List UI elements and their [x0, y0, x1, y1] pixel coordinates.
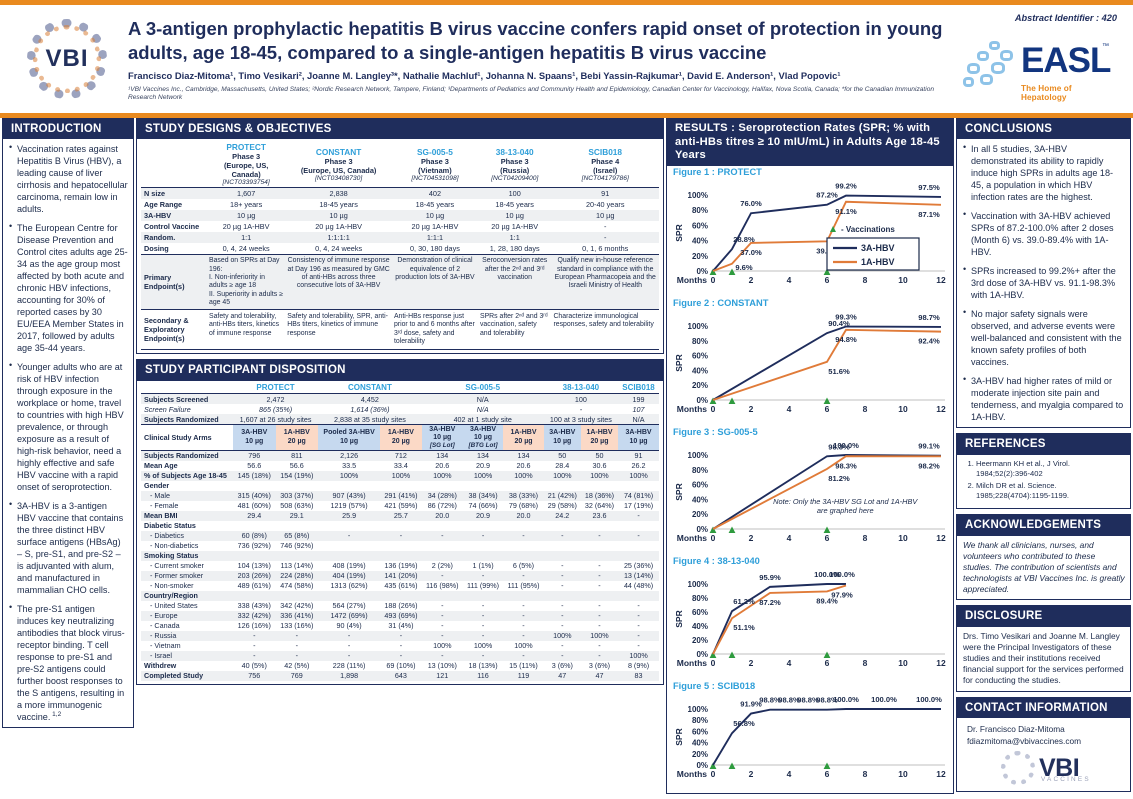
row-label: Control Vaccine: [141, 221, 207, 232]
figure-chart: 0%20%40%60%80%100%SPR024681012Months61.2…: [669, 566, 951, 680]
table-row: Withdrew40 (5%)42 (5%)228 (11%)69 (10%)1…: [141, 661, 659, 671]
study-phase: Phase 3: [209, 152, 283, 161]
table-row: Control Vaccine20 µg 1A-HBV20 µg 1A-HBV2…: [141, 221, 659, 232]
y-tick-label: 60%: [692, 221, 708, 230]
table-cell: -: [544, 601, 581, 611]
easl-trademark-icon: ™: [1102, 43, 1109, 50]
table-cell: 3 (6%): [581, 661, 618, 671]
study-designs-tbody: N size1,6072,83840210091Age Range18+ yea…: [141, 188, 659, 350]
x-tick-label: 2: [749, 275, 754, 285]
table-cell: 116: [463, 671, 503, 681]
y-tick-label: 80%: [692, 206, 708, 215]
references-heading: REFERENCES: [957, 434, 1130, 454]
disposition-tbody: Subjects Screened2,4724,452N/A100199Scre…: [141, 394, 659, 681]
y-tick-label: 20%: [692, 252, 708, 261]
reference-item: Heermann KH et al., J Virol. 1984;52(2):…: [976, 459, 1125, 479]
table-cell: [422, 541, 463, 551]
table-cell: [544, 551, 581, 561]
data-point-label: 99.2%: [835, 182, 857, 191]
table-row: Age Range18+ years18-45 years18-45 years…: [141, 199, 659, 210]
table-cell: [233, 591, 276, 601]
data-point-label: 95.9%: [759, 573, 781, 582]
table-cell: -: [618, 531, 659, 541]
figure-3: Figure 3 : SG-005-50%20%40%60%80%100%SPR…: [669, 426, 951, 555]
table-cell: [581, 541, 618, 551]
study-name: SCIB018: [553, 147, 657, 157]
table-cell: 1:1:1: [392, 232, 478, 243]
row-label: - Israel: [141, 651, 233, 661]
page-title: A 3-antigen prophylactic hepatitis B vir…: [128, 17, 948, 64]
data-point-label: 51.6%: [828, 367, 850, 376]
x-tick-label: 4: [787, 275, 792, 285]
easl-wordmark: EASL: [1021, 43, 1110, 78]
table-cell: 20.6: [422, 461, 463, 471]
disposition-column-header: PROTECT: [233, 383, 318, 394]
arm-dose: 10 µg: [546, 438, 579, 446]
table-cell: 0, 1, 6 months: [551, 243, 659, 255]
y-axis-label: SPR: [674, 354, 684, 371]
table-cell: 4,452: [318, 394, 422, 405]
table-cell: -: [618, 611, 659, 621]
y-tick-label: 60%: [692, 352, 708, 361]
table-cell: 20.9: [463, 511, 503, 521]
table-cell: 100%: [463, 641, 503, 651]
table-cell: [318, 591, 380, 601]
table-cell: [544, 521, 581, 531]
table-cell: -: [318, 641, 380, 651]
study-location: (Europe, US, Canada): [209, 161, 283, 179]
table-cell: [503, 521, 543, 531]
table-cell: 2,472: [233, 394, 318, 405]
x-tick-label: 2: [749, 533, 754, 543]
contact-heading: CONTACT INFORMATION: [957, 698, 1130, 718]
y-tick-label: 20%: [692, 750, 708, 759]
table-cell: 34 (28%): [422, 491, 463, 501]
table-cell: 712: [380, 450, 422, 461]
table-cell: [233, 551, 276, 561]
table-cell: 29.1: [276, 511, 319, 521]
table-cell: 31 (4%): [380, 621, 422, 631]
table-cell: -: [422, 571, 463, 581]
row-label: Completed Study: [141, 671, 233, 681]
table-cell: -: [463, 621, 503, 631]
table-cell: N/A: [618, 414, 659, 425]
table-cell: 33.5: [318, 461, 380, 471]
table-cell: 30.6: [581, 461, 618, 471]
table-row: - Israel---------100%: [141, 651, 659, 661]
table-cell: 865 (35%): [233, 404, 318, 414]
table-cell: 315 (40%): [233, 491, 276, 501]
figure-title: Figure 3 : SG-005-5: [669, 426, 951, 437]
clinical-study-arms-row: Clinical Study Arms3A-HBV10 µg1A-HBV20 µ…: [141, 425, 659, 451]
table-cell: 126 (16%): [233, 621, 276, 631]
table-cell: -: [463, 631, 503, 641]
table-row: Mean Age56.656.633.533.420.620.920.628.4…: [141, 461, 659, 471]
data-point-label: 97.9%: [831, 590, 853, 599]
table-cell: -: [380, 631, 422, 641]
contact-name: Dr. Francisco Diaz-Mitoma: [967, 724, 1125, 736]
table-cell: -: [503, 571, 543, 581]
table-cell: 18 (13%): [463, 661, 503, 671]
data-point-label: 97.5%: [918, 183, 940, 192]
table-cell: SPRs after 2ⁿᵈ and 3ʳᵈ vaccination, safe…: [478, 310, 551, 350]
table-cell: 20-40 years: [551, 199, 659, 210]
row-label: Primary Endpoint(s): [141, 255, 207, 310]
table-cell: 336 (41%): [276, 611, 319, 621]
x-tick-label: 8: [863, 658, 868, 668]
table-cell: 29.4: [233, 511, 276, 521]
conclusions-panel: CONCLUSIONS In all 5 studies, 3A-HBV dem…: [956, 118, 1131, 428]
table-cell: 20.6: [503, 461, 543, 471]
study-phase: Phase 3: [287, 157, 390, 166]
x-tick-label: 6: [825, 658, 830, 668]
table-cell: 1, 28, 180 days: [478, 243, 551, 255]
table-cell: 481 (60%): [233, 501, 276, 511]
table-cell: 402 at 1 study site: [422, 414, 544, 425]
vbi-logo: VBI: [22, 17, 112, 101]
x-tick-label: 6: [825, 533, 830, 543]
table-cell: 291 (41%): [380, 491, 422, 501]
table-cell: -: [422, 651, 463, 661]
table-cell: 20.0: [422, 511, 463, 521]
table-cell: 907 (43%): [318, 491, 380, 501]
legend-label-3a: 3A-HBV: [861, 243, 895, 253]
table-cell: 508 (63%): [276, 501, 319, 511]
table-cell: 28.4: [544, 461, 581, 471]
study-design-column-header: CONSTANTPhase 3(Europe, US, Canada)[NCT0…: [285, 141, 392, 188]
table-row: - Male315 (40%)303 (37%)907 (43%)291 (41…: [141, 491, 659, 501]
legend-label-1a: 1A-HBV: [861, 257, 895, 267]
author-list: Francisco Diaz-Mitoma¹, Timo Vesikari², …: [128, 70, 948, 82]
table-row: - Female481 (60%)508 (63%)1219 (57%)421 …: [141, 501, 659, 511]
table-cell: 20 µg 1A-HBV: [478, 221, 551, 232]
table-cell: -: [618, 621, 659, 631]
y-tick-label: 40%: [692, 739, 708, 748]
x-tick-label: 10: [898, 275, 908, 285]
data-point-label: 98.2%: [918, 461, 940, 470]
table-cell: 435 (61%): [380, 581, 422, 591]
table-row: Diabetic Status: [141, 521, 659, 531]
table-cell: 224 (28%): [276, 571, 319, 581]
row-label: - Non-smoker: [141, 581, 233, 591]
table-cell: 421 (59%): [380, 501, 422, 511]
table-cell: [463, 551, 503, 561]
y-tick-label: 80%: [692, 466, 708, 475]
disclosure-panel: DISCLOSURE Drs. Timo Vesikari and Joanne…: [956, 605, 1131, 691]
column-study-tables: STUDY DESIGNS & OBJECTIVES PROTECTPhase …: [136, 118, 664, 690]
table-cell: 119: [503, 671, 543, 681]
table-row: - Diabetics60 (8%)65 (8%)--------: [141, 531, 659, 541]
data-point-label: 76.0%: [740, 199, 762, 208]
figure-title: Figure 1 : PROTECT: [669, 166, 951, 177]
table-cell: [463, 521, 503, 531]
table-cell: -: [422, 601, 463, 611]
x-tick-label: 10: [898, 769, 908, 779]
data-point-label: 51.1%: [733, 623, 755, 632]
x-axis-label: Months: [677, 658, 707, 668]
table-cell: 42 (5%): [276, 661, 319, 671]
x-tick-label: 12: [936, 404, 946, 414]
row-label: Withdrew: [141, 661, 233, 671]
table-cell: [276, 481, 319, 491]
disposition-heading: STUDY PARTICIPANT DISPOSITION: [137, 360, 663, 380]
table-cell: Based on SPRs at Day 196:I. Non-inferior…: [207, 255, 285, 310]
table-cell: -: [380, 641, 422, 651]
table-cell: 50: [544, 450, 581, 461]
x-tick-label: 2: [749, 769, 754, 779]
table-cell: 25 (36%): [618, 561, 659, 571]
row-label: - Current smoker: [141, 561, 233, 571]
table-cell: [276, 591, 319, 601]
table-cell: 332 (42%): [233, 611, 276, 621]
table-cell: 564 (27%): [318, 601, 380, 611]
table-cell: 20 µg 1A-HBV: [392, 221, 478, 232]
table-cell: -: [544, 611, 581, 621]
y-tick-label: 100%: [688, 705, 708, 714]
y-tick-label: 100%: [688, 322, 708, 331]
y-axis-label: SPR: [674, 224, 684, 241]
table-cell: -: [544, 581, 581, 591]
table-cell: Safety and tolerability, SPR, anti-HBs t…: [285, 310, 392, 350]
x-axis-label: Months: [677, 404, 707, 414]
conclusion-bullet: 3A-HBV had higher rates of mild or moder…: [963, 375, 1125, 423]
arm-dose: 20 µg: [278, 438, 317, 446]
table-row: Smoking Status: [141, 551, 659, 561]
row-label: Random.: [141, 232, 207, 243]
x-tick-label: 4: [787, 533, 792, 543]
table-cell: 69 (10%): [380, 661, 422, 671]
table-cell: 13 (10%): [422, 661, 463, 671]
x-tick-label: 4: [787, 404, 792, 414]
arm-name: Pooled 3A-HBV: [320, 429, 378, 437]
arm-dose: 20 µg: [382, 438, 420, 446]
table-cell: 188 (26%): [380, 601, 422, 611]
disposition-column-header: CONSTANT: [318, 383, 422, 394]
table-cell: -: [581, 641, 618, 651]
table-cell: 2,838 at 35 study sites: [318, 414, 422, 425]
table-cell: [380, 521, 422, 531]
y-tick-label: 20%: [692, 510, 708, 519]
table-cell: 100 at 3 study sites: [544, 414, 618, 425]
arm-lot: [BTG Lot]: [465, 442, 501, 449]
table-row: - Russia-------100%100%-: [141, 631, 659, 641]
table-cell: 13 (14%): [618, 571, 659, 581]
table-cell: 2,838: [285, 188, 392, 200]
table-cell: 338 (43%): [233, 601, 276, 611]
table-cell: 100%: [422, 641, 463, 651]
x-tick-label: 0: [711, 769, 716, 779]
row-label: Gender: [141, 481, 233, 491]
table-cell: 18-45 years: [285, 199, 392, 210]
table-cell: [544, 481, 581, 491]
table-cell: 100: [478, 188, 551, 200]
arm-dose: 10 µg: [320, 438, 378, 446]
row-label: Age Range: [141, 199, 207, 210]
table-cell: 489 (61%): [233, 581, 276, 591]
table-cell: -: [380, 531, 422, 541]
x-tick-label: 12: [936, 275, 946, 285]
table-cell: 0, 30, 180 days: [392, 243, 478, 255]
table-cell: 116 (98%): [422, 581, 463, 591]
table-cell: 2 (2%): [422, 561, 463, 571]
introduction-bullet: 3A-HBV is a 3-antigen HBV vaccine that c…: [9, 500, 128, 596]
table-cell: 100%: [318, 471, 380, 481]
study-designs-header-row: PROTECTPhase 3(Europe, US, Canada)[NCT03…: [141, 141, 659, 188]
table-cell: 100%: [618, 651, 659, 661]
table-cell: -: [544, 571, 581, 581]
column-results: RESULTS : Seroprotection Rates (SPR; % w…: [666, 118, 954, 799]
table-cell: 90 (4%): [318, 621, 380, 631]
table-cell: -: [503, 531, 543, 541]
table-cell: 769: [276, 671, 319, 681]
x-tick-label: 10: [898, 404, 908, 414]
table-cell: -: [581, 531, 618, 541]
row-label: Country/Region: [141, 591, 233, 601]
acknowledgements-text: We thank all clinicians, nurses, and vol…: [963, 540, 1125, 596]
x-tick-label: 2: [749, 658, 754, 668]
table-cell: 44 (48%): [618, 581, 659, 591]
x-axis-label: Months: [677, 275, 707, 285]
study-design-column-header: PROTECTPhase 3(Europe, US, Canada)[NCT03…: [207, 141, 285, 188]
figure-title: Figure 2 : CONSTANT: [669, 297, 951, 308]
table-cell: 104 (13%): [233, 561, 276, 571]
table-cell: -: [422, 531, 463, 541]
table-cell: [422, 481, 463, 491]
table-cell: [318, 551, 380, 561]
table-cell: 18+ years: [207, 199, 285, 210]
vaccination-marker-icon: [824, 397, 831, 404]
table-cell: 404 (19%): [318, 571, 380, 581]
data-point-label: 91.1%: [835, 207, 857, 216]
data-point-label: 99.3%: [835, 312, 857, 321]
arm-name: 1A-HBV: [583, 429, 616, 437]
table-cell: 65 (8%): [276, 531, 319, 541]
vaccination-marker-icon: [729, 397, 736, 404]
table-cell: 1472 (69%): [318, 611, 380, 621]
table-cell: 100%: [422, 471, 463, 481]
table-cell: 86 (72%): [422, 501, 463, 511]
table-cell: 0, 4, 24 weeks: [285, 243, 392, 255]
disposition-thead: PROTECTCONSTANTSG-005-538-13-040SCIB018: [141, 383, 659, 394]
study-nct-id: [NCT03408730]: [287, 175, 390, 182]
table-cell: 1:1: [478, 232, 551, 243]
table-cell: [581, 591, 618, 601]
table-row: 3A-HBV10 µg10 µg10 µg10 µg10 µg: [141, 210, 659, 221]
introduction-bullet: The European Centre for Disease Preventi…: [9, 222, 128, 354]
data-point-label: 94.8%: [835, 335, 857, 344]
table-cell: Characterize immunological responses, sa…: [551, 310, 659, 350]
table-cell: -: [618, 631, 659, 641]
arm-name: 1A-HBV: [382, 429, 420, 437]
arm-name: 3A-HBV: [235, 429, 274, 437]
table-cell: -: [380, 651, 422, 661]
table-row: - Former smoker203 (26%)224 (28%)404 (19…: [141, 571, 659, 581]
data-point-label: 37.0%: [740, 248, 762, 257]
table-cell: 100%: [503, 641, 543, 651]
row-label: Subjects Screened: [141, 394, 233, 405]
data-point-label: 98.7%: [918, 313, 940, 322]
x-tick-label: 6: [825, 404, 830, 414]
table-cell: [581, 551, 618, 561]
table-cell: 141 (20%): [380, 571, 422, 581]
introduction-bullet: The pre-S1 antigen induces key neutraliz…: [9, 603, 128, 723]
x-tick-label: 12: [936, 769, 946, 779]
table-cell: [581, 481, 618, 491]
table-cell: 91: [618, 450, 659, 461]
table-cell: 29 (58%): [544, 501, 581, 511]
introduction-panel: INTRODUCTION Vaccination rates against H…: [2, 118, 134, 728]
table-row: Dosing0, 4, 24 weeks0, 4, 24 weeks0, 30,…: [141, 243, 659, 255]
table-cell: 134: [503, 450, 543, 461]
table-cell: 1,898: [318, 671, 380, 681]
table-cell: -: [503, 621, 543, 631]
table-cell: -: [618, 601, 659, 611]
study-arm-cell: 1A-HBV20 µg: [276, 425, 319, 451]
table-cell: 25.7: [380, 511, 422, 521]
results-panel: RESULTS : Seroprotection Rates (SPR; % w…: [666, 118, 954, 794]
table-cell: 154 (19%): [276, 471, 319, 481]
vaccination-marker-icon: [729, 762, 736, 769]
x-axis-label: Months: [677, 769, 707, 779]
table-cell: 24.2: [544, 511, 581, 521]
y-axis-label: SPR: [674, 483, 684, 500]
table-cell: 50: [581, 450, 618, 461]
study-arm-cell: 3A-HBV10 µg: [618, 425, 659, 451]
y-tick-label: 80%: [692, 716, 708, 725]
arm-name: 1A-HBV: [505, 429, 541, 437]
table-cell: [463, 541, 503, 551]
series-line-3A-HBV: [713, 455, 941, 529]
table-cell: 10 µg: [207, 210, 285, 221]
column-introduction: INTRODUCTION Vaccination rates against H…: [2, 118, 134, 733]
table-cell: 91: [551, 188, 659, 200]
row-label: N size: [141, 188, 207, 200]
table-cell: -: [544, 641, 581, 651]
contact-email[interactable]: fdiazmitoma@vbivaccines.com: [967, 736, 1125, 748]
disposition-header-row: PROTECTCONSTANTSG-005-538-13-040SCIB018: [141, 383, 659, 394]
table-cell: -: [422, 621, 463, 631]
table-cell: 121: [422, 671, 463, 681]
introduction-heading: INTRODUCTION: [3, 119, 133, 139]
table-row: - Canada126 (16%)133 (16%)90 (4%)31 (4%)…: [141, 621, 659, 631]
arm-dose: 10 µg: [620, 438, 657, 446]
table-cell: 203 (26%): [233, 571, 276, 581]
table-cell: [544, 591, 581, 601]
table-cell: [463, 481, 503, 491]
table-cell: 1 (1%): [463, 561, 503, 571]
data-point-label: 87.2%: [816, 191, 838, 200]
abstract-identifier: Abstract Identifier : 420: [1015, 13, 1117, 23]
arm-name: 3A-HBV: [546, 429, 579, 437]
disposition-column-header: SG-005-5: [422, 383, 544, 394]
study-arm-cell: 1A-HBV20 µg: [581, 425, 618, 451]
x-axis-label: Months: [677, 533, 707, 543]
row-label: Mean Age: [141, 461, 233, 471]
row-label: Screen Failure: [141, 404, 233, 414]
table-cell: 100%: [544, 631, 581, 641]
contact-vbi-ring-icon: [1001, 751, 1035, 785]
row-label: Subjects Randomized: [141, 414, 233, 425]
data-point-label: 9.6%: [735, 263, 753, 272]
y-tick-label: 80%: [692, 337, 708, 346]
study-design-column-header: 38-13-040Phase 3(Russia)[NCT04209400]: [478, 141, 551, 188]
conclusions-bullets: In all 5 studies, 3A-HBV demonstrated it…: [963, 143, 1125, 423]
poster-root: VBI A 3-antigen prophylactic hepatitis B…: [0, 0, 1133, 722]
x-tick-label: 6: [825, 769, 830, 779]
table-cell: 133 (16%): [276, 621, 319, 631]
row-label: Secondary & Exploratory Endpoint(s): [141, 310, 207, 350]
y-tick-label: 40%: [692, 366, 708, 375]
